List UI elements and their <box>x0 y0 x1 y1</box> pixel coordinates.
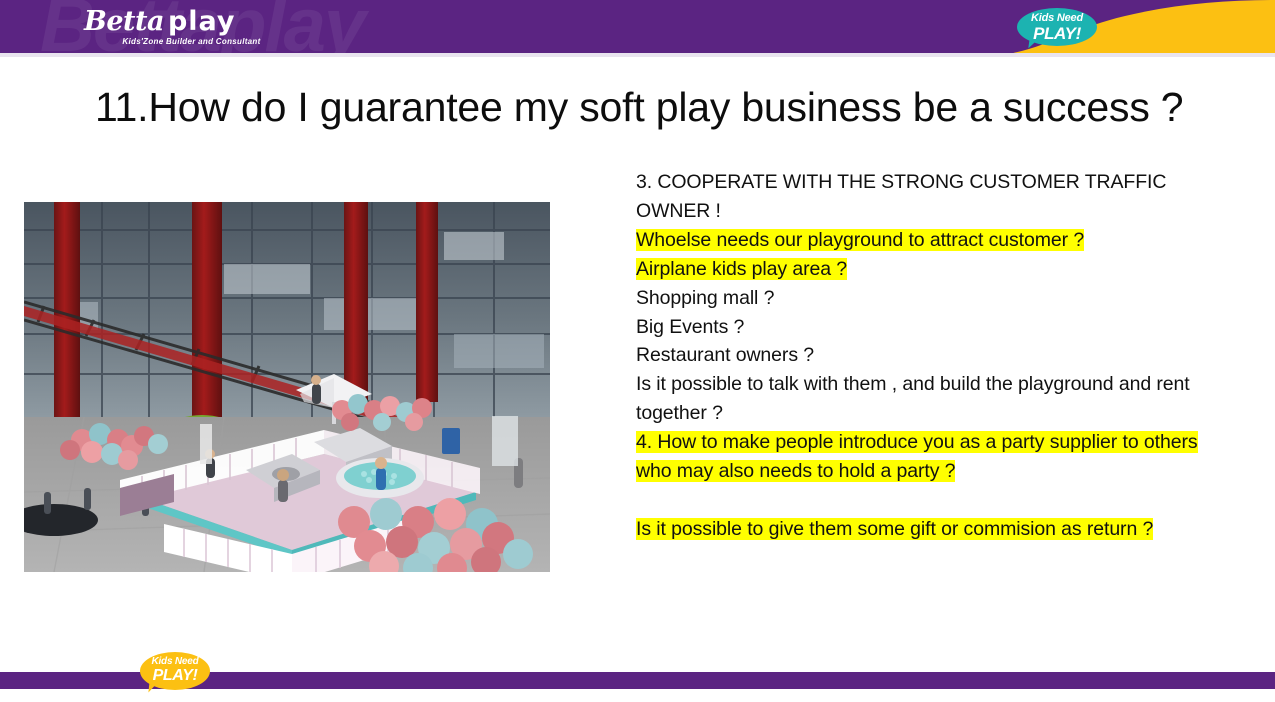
header-underline <box>0 53 1275 57</box>
logo-word-betta: Betta <box>84 6 164 37</box>
soft-play-area-photo <box>24 202 550 572</box>
kids-need-play-badge-header: Kids Need PLAY! <box>1017 8 1097 50</box>
badge-line-1: Kids Need <box>1017 13 1097 24</box>
logo-word-play: play <box>168 6 236 37</box>
body-line-spacer <box>636 486 1202 515</box>
body-line-6: Is it possible to talk with them , and b… <box>636 370 1202 428</box>
body-line-0: 3. COOPERATE WITH THE STRONG CUSTOMER TR… <box>636 168 1202 226</box>
bettaplay-logo: Bettaplay Kids'Zone Builder and Consulta… <box>84 8 314 50</box>
badge-footer-line-2: PLAY! <box>140 668 210 684</box>
badge-footer-line-1: Kids Need <box>140 657 210 667</box>
badge-line-2: PLAY! <box>1017 25 1097 42</box>
logo-tagline: Kids'Zone Builder and Consultant <box>84 37 299 46</box>
slide-body-text: 3. COOPERATE WITH THE STRONG CUSTOMER TR… <box>636 168 1202 544</box>
body-line-4: Big Events ? <box>636 313 1202 342</box>
body-line-3: Shopping mall ? <box>636 284 1202 313</box>
body-line-5: Restaurant owners ? <box>636 341 1202 370</box>
kids-need-play-badge-footer: Kids Need PLAY! <box>140 652 210 702</box>
slide-title: 11.How do I guarantee my soft play busin… <box>95 78 1195 136</box>
badge-text-footer: Kids Need PLAY! <box>140 657 210 684</box>
body-line-1: Whoelse needs our playground to attract … <box>636 226 1202 255</box>
body-line-7: 4. How to make people introduce you as a… <box>636 428 1202 486</box>
body-line-2: Airplane kids play area ? <box>636 255 1202 284</box>
body-line-9: Is it possible to give them some gift or… <box>636 515 1202 544</box>
badge-text-header: Kids Need PLAY! <box>1017 13 1097 42</box>
logo-wordmark: Bettaplay <box>84 8 314 35</box>
